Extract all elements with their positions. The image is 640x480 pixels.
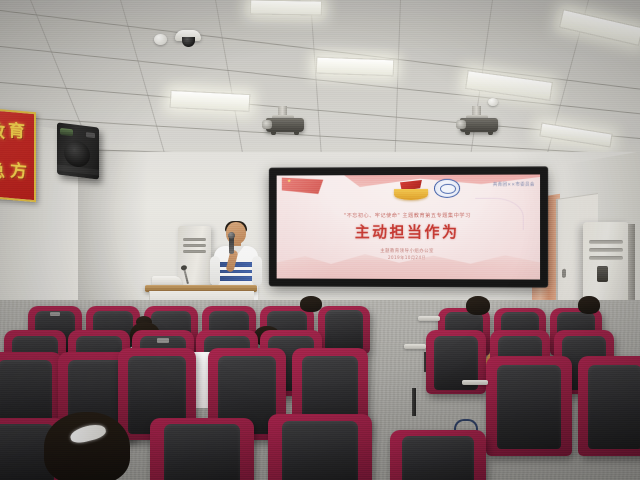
seat[interactable] <box>390 430 486 480</box>
dome-camera-icon <box>175 30 201 45</box>
seat[interactable] <box>268 414 372 480</box>
slide-footer-line-1: 主题教育领导小组办公室 <box>277 248 540 254</box>
seat-leg <box>412 388 416 416</box>
projector-foot <box>465 131 470 135</box>
seat-cushion <box>164 424 241 480</box>
handheld-microphone-icon <box>229 236 234 254</box>
ceiling-light-panel <box>559 9 640 46</box>
projection-screen: ★ 共青团××市委员会 "不忘初心、牢记使命" 主题教育第五专题集中学习 主动担… <box>270 167 547 286</box>
seat-writing-tray[interactable] <box>462 380 488 385</box>
seat-cushion <box>588 365 640 449</box>
seat[interactable] <box>150 418 254 480</box>
seat-writing-tray[interactable] <box>404 344 426 349</box>
seat[interactable] <box>486 356 572 456</box>
speaker-cone <box>64 139 90 168</box>
ac-vent <box>183 250 206 253</box>
projector-lens <box>456 120 466 129</box>
ceiling-light-panel <box>170 90 251 112</box>
seat-tag <box>157 338 169 343</box>
banner-char-1: 教 <box>0 116 5 142</box>
banner-char-2: 育 <box>8 116 25 142</box>
ceiling-light-panel <box>250 0 322 16</box>
attendee-head <box>44 412 130 480</box>
presenter-arm-left <box>210 256 220 286</box>
wall-speaker <box>57 122 99 179</box>
seat-cushion <box>282 421 359 480</box>
attendee-head <box>466 296 490 315</box>
ac-control-panel[interactable] <box>597 266 608 282</box>
photo-scene: 教 育 总 方 ★ <box>0 0 640 480</box>
camera-lens <box>182 37 195 47</box>
banner-char-4: 方 <box>10 156 27 182</box>
presenter-arm-right <box>252 256 262 286</box>
smoke-detector-icon <box>488 98 498 106</box>
banner-char-3: 总 <box>0 156 5 182</box>
organization-logo-icon <box>434 179 460 198</box>
attendee-head <box>300 296 322 312</box>
seat-writing-tray[interactable] <box>418 316 440 321</box>
projector-lens <box>262 120 272 129</box>
seat-cushion <box>325 310 363 350</box>
flag-star-icon: ★ <box>287 180 291 185</box>
slide-organization: 共青团××市委员会 <box>463 180 535 190</box>
seat[interactable] <box>318 306 370 354</box>
ac-vent <box>589 240 623 244</box>
party-emblem-icon <box>394 179 428 200</box>
attendee-head <box>578 296 600 314</box>
speaker-grille <box>57 164 99 175</box>
projector-foot <box>294 131 299 135</box>
projector-foot <box>488 131 493 135</box>
seat-tag <box>50 312 61 316</box>
seat-cushion <box>497 365 561 449</box>
seat-cushion <box>402 436 473 480</box>
speaker-led <box>86 132 95 138</box>
wall-banner: 教 育 总 方 <box>0 108 36 203</box>
ac-vent <box>589 248 623 252</box>
slide-decor-cloud <box>475 198 524 230</box>
ac-vent <box>589 256 623 260</box>
smoke-detector-icon <box>154 34 167 45</box>
emblem-base <box>394 189 428 200</box>
ac-vent <box>183 238 206 241</box>
projector-foot <box>271 131 276 135</box>
ac-vent <box>183 244 206 247</box>
speaker-tweeter <box>60 128 73 137</box>
slide-content: ★ 共青团××市委员会 "不忘初心、牢记使命" 主题教育第五专题集中学习 主动担… <box>277 174 540 279</box>
seat[interactable] <box>578 356 640 456</box>
door-handle[interactable] <box>562 269 566 279</box>
ceiling-light-panel <box>316 57 395 77</box>
